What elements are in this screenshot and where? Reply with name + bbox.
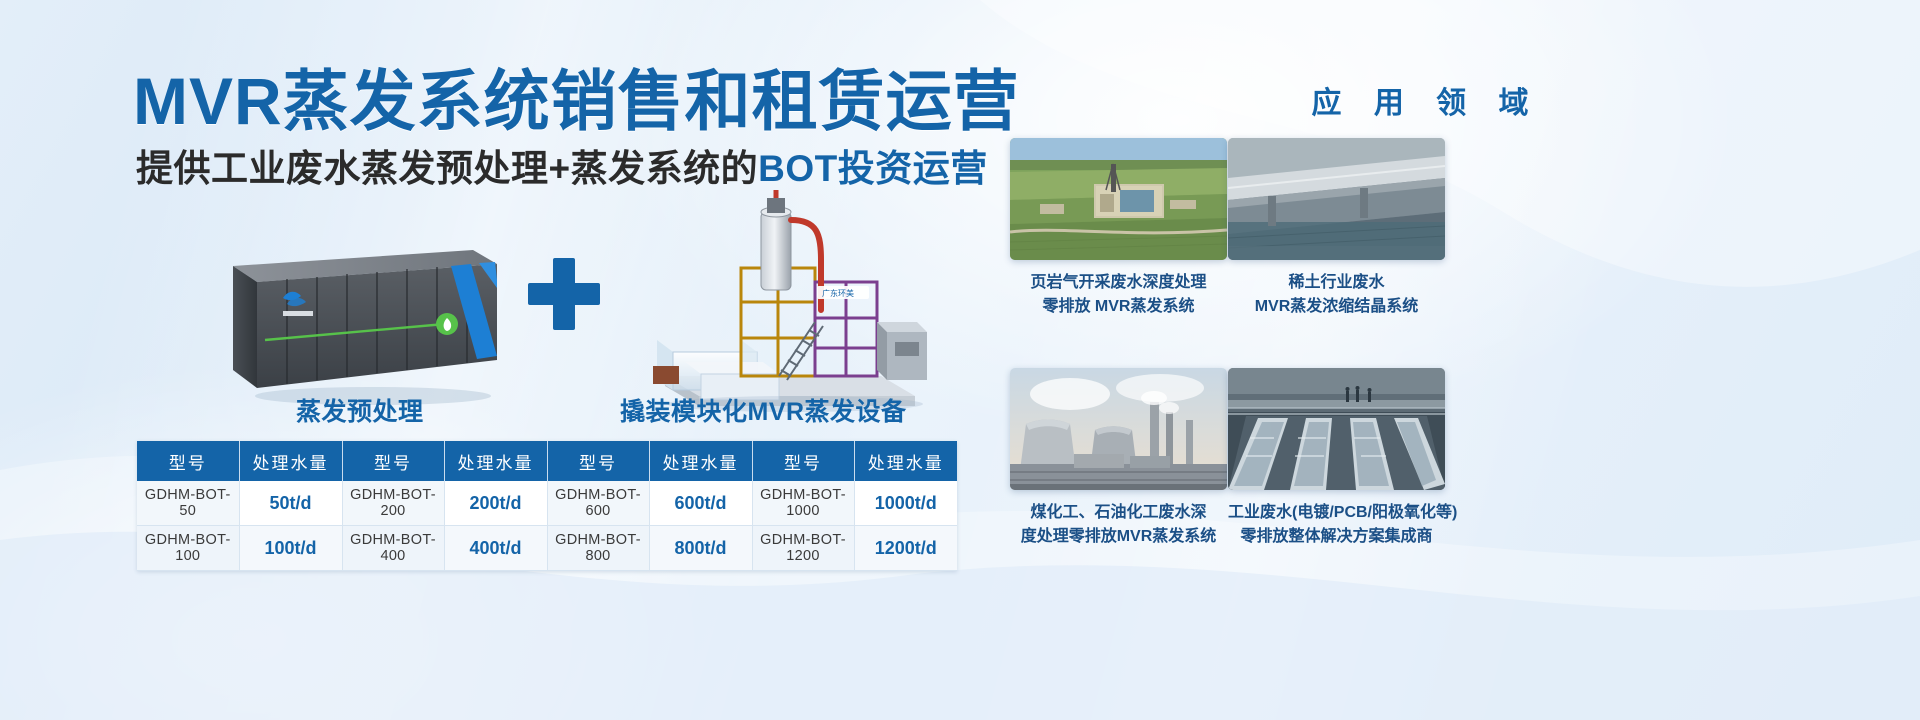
hero-subtitle-main: 提供工业废水蒸发预处理+蒸发系统的 (136, 148, 758, 189)
rare-earth-photo (1228, 138, 1445, 260)
cell-capacity: 400t/d (444, 526, 547, 571)
column-header-capacity-1: 处理水量 (239, 441, 342, 481)
applications-panel: 应 用 领 域 (1000, 0, 1920, 720)
column-header-capacity-2: 处理水量 (444, 441, 547, 481)
application-caption: 工业废水(电镀/PCB/阳极氧化等) 零排放整体解决方案集成商 (1228, 501, 1445, 549)
cell-capacity: 800t/d (649, 526, 752, 571)
cell-model: GDHM-BOT-100 (137, 526, 239, 571)
cell-model: GDHM-BOT-200 (342, 481, 444, 526)
application-card-rare-earth: 稀土行业废水 MVR蒸发浓缩结晶系统 (1228, 138, 1445, 319)
caption-line-2: 度处理零排放MVR蒸发系统 (1010, 525, 1227, 549)
cell-model: GDHM-BOT-50 (137, 481, 239, 526)
caption-line-1: 页岩气开采废水深度处理 (1010, 271, 1227, 295)
product-caption-skid-mvr: 撬装模块化MVR蒸发设备 (620, 392, 907, 428)
cell-model: GDHM-BOT-1200 (752, 526, 854, 571)
mvr-promo-banner: MVR蒸发系统销售和租赁运营 提供工业废水蒸发预处理+蒸发系统的BOT投资运营 (0, 0, 1920, 720)
application-card-coal-petro-chem: 煤化工、石油化工废水深 度处理零排放MVR蒸发系统 (1010, 368, 1227, 549)
application-card-industrial-wastewater: 工业废水(电镀/PCB/阳极氧化等) 零排放整体解决方案集成商 (1228, 368, 1445, 549)
column-header-capacity-4: 处理水量 (854, 441, 957, 481)
skid-mounted-mvr-image: 广东环美 (645, 190, 935, 415)
cell-capacity: 50t/d (239, 481, 342, 526)
column-header-capacity-3: 处理水量 (649, 441, 752, 481)
application-caption: 稀土行业废水 MVR蒸发浓缩结晶系统 (1228, 271, 1445, 319)
cell-capacity: 1000t/d (854, 481, 957, 526)
caption-line-1: 稀土行业废水 (1228, 271, 1445, 295)
column-header-model-3: 型号 (547, 441, 649, 481)
column-header-model-2: 型号 (342, 441, 444, 481)
caption-line-2: MVR蒸发浓缩结晶系统 (1228, 295, 1445, 319)
caption-line-2: 零排放整体解决方案集成商 (1228, 525, 1445, 549)
column-header-model-4: 型号 (752, 441, 854, 481)
page-title: MVR蒸发系统销售和租赁运营 (133, 68, 1020, 134)
hero-subtitle-highlight: BOT投资运营 (758, 148, 988, 189)
cell-model: GDHM-BOT-800 (547, 526, 649, 571)
left-content-panel: MVR蒸发系统销售和租赁运营 提供工业废水蒸发预处理+蒸发系统的BOT投资运营 (0, 0, 1000, 720)
shale-gas-photo (1010, 138, 1227, 260)
caption-line-1: 煤化工、石油化工废水深 (1010, 501, 1227, 525)
hero-subtitle: 提供工业废水蒸发预处理+蒸发系统的BOT投资运营 (136, 148, 988, 191)
caption-line-1: 工业废水(电镀/PCB/阳极氧化等) (1228, 501, 1445, 525)
cell-model: GDHM-BOT-600 (547, 481, 649, 526)
application-card-shale-gas: 页岩气开采废水深度处理 零排放 MVR蒸发系统 (1010, 138, 1227, 319)
cell-capacity: 100t/d (239, 526, 342, 571)
cell-model: GDHM-BOT-400 (342, 526, 444, 571)
application-caption: 页岩气开采废水深度处理 零排放 MVR蒸发系统 (1010, 271, 1227, 319)
wastewater-basins-photo (1228, 368, 1445, 490)
table-row: GDHM-BOT-50 50t/d GDHM-BOT-200 200t/d GD… (137, 481, 957, 526)
cell-model: GDHM-BOT-1000 (752, 481, 854, 526)
table-header-row: 型号 处理水量 型号 处理水量 型号 处理水量 型号 处理水量 (137, 441, 957, 481)
product-caption-pretreatment: 蒸发预处理 (296, 392, 424, 428)
evaporation-pretreatment-image (205, 228, 505, 413)
caption-line-2: 零排放 MVR蒸发系统 (1010, 295, 1227, 319)
cell-capacity: 600t/d (649, 481, 752, 526)
plus-icon (528, 258, 600, 330)
coal-chemical-plant-photo (1010, 368, 1227, 490)
cell-capacity: 200t/d (444, 481, 547, 526)
svg-text:广东环美: 广东环美 (822, 288, 854, 298)
application-caption: 煤化工、石油化工废水深 度处理零排放MVR蒸发系统 (1010, 501, 1227, 549)
cell-capacity: 1200t/d (854, 526, 957, 571)
column-header-model-1: 型号 (137, 441, 239, 481)
applications-title: 应 用 领 域 (1140, 78, 1700, 122)
specification-table: 型号 处理水量 型号 处理水量 型号 处理水量 型号 处理水量 GDHM-BOT… (137, 441, 957, 571)
table-row: GDHM-BOT-100 100t/d GDHM-BOT-400 400t/d … (137, 526, 957, 571)
